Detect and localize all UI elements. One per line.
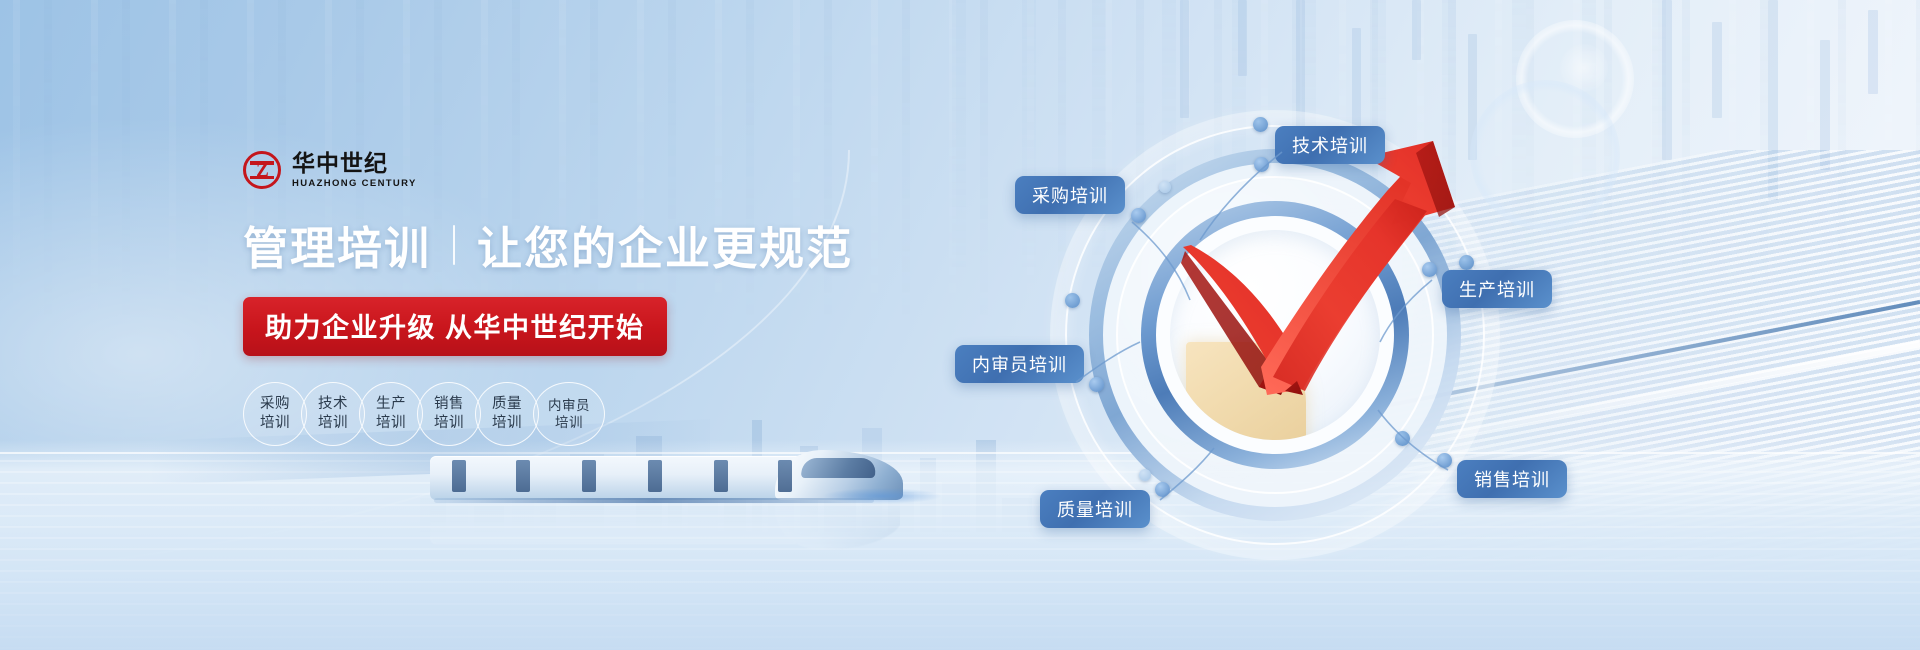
label-xiaoshou[interactable]: 销售培训 (1457, 460, 1567, 498)
pill-line1: 内审员 (548, 397, 590, 414)
page-title: 管理培训 让您的企业更规范 (243, 212, 943, 277)
logo-glyph: Z (256, 161, 268, 180)
pill-neishenyuan[interactable]: 内审员 培训 (533, 382, 605, 446)
training-pill-row: 采购 培训 技术 培训 生产 培训 销售 培训 质量 培训 内审员 培训 (243, 382, 943, 446)
train-reflection (430, 500, 900, 558)
pill-line1: 技术 (318, 395, 348, 414)
pill-shengchan[interactable]: 生产 培训 (359, 382, 423, 446)
brand-lockup: 华中世纪 HUAZHONG CENTURY (292, 152, 417, 189)
label-caigou[interactable]: 采购培训 (1015, 176, 1125, 214)
tagline-banner: 助力企业升级 从华中世纪开始 (243, 297, 667, 356)
pill-zhiliang[interactable]: 质量 培训 (475, 382, 539, 446)
label-shengchan[interactable]: 生产培训 (1442, 270, 1552, 308)
label-jishu[interactable]: 技术培训 (1275, 126, 1385, 164)
headline-right: 让您的企业更规范 (477, 212, 853, 277)
pill-line1: 采购 (260, 395, 290, 414)
pill-line1: 质量 (492, 395, 522, 414)
headline-divider (453, 225, 455, 265)
pill-jishu[interactable]: 技术 培训 (301, 382, 365, 446)
pill-line2: 培训 (318, 414, 348, 433)
pill-line1: 生产 (376, 395, 406, 414)
brand-logo[interactable]: Z 华中世纪 HUAZHONG CENTURY (243, 150, 943, 190)
huazhong-circular-emblem-icon: Z (243, 151, 281, 189)
headline-left: 管理培训 (243, 212, 431, 277)
pill-line2: 培训 (260, 414, 290, 433)
ground-line-texture (0, 460, 1920, 650)
pill-line2: 培训 (555, 414, 583, 431)
high-speed-train-icon (430, 440, 900, 500)
pill-line2: 培训 (492, 414, 522, 433)
brand-name-en: HUAZHONG CENTURY (292, 179, 417, 189)
content-block: Z 华中世纪 HUAZHONG CENTURY 管理培训 让您的企业更规范 助力… (243, 150, 943, 446)
label-neishenyuan[interactable]: 内审员培训 (955, 345, 1084, 383)
training-banner: Z 华中世纪 HUAZHONG CENTURY 管理培训 让您的企业更规范 助力… (0, 0, 1920, 650)
label-zhiliang[interactable]: 质量培训 (1040, 490, 1150, 528)
tagline-text: 助力企业升级 从华中世纪开始 (265, 306, 645, 345)
pill-xiaoshou[interactable]: 销售 培训 (417, 382, 481, 446)
brand-name-cn: 华中世纪 (292, 152, 417, 175)
pill-line2: 培训 (376, 414, 406, 433)
pill-line2: 培训 (434, 414, 464, 433)
pill-caigou[interactable]: 采购 培训 (243, 382, 307, 446)
pill-line1: 销售 (434, 395, 464, 414)
